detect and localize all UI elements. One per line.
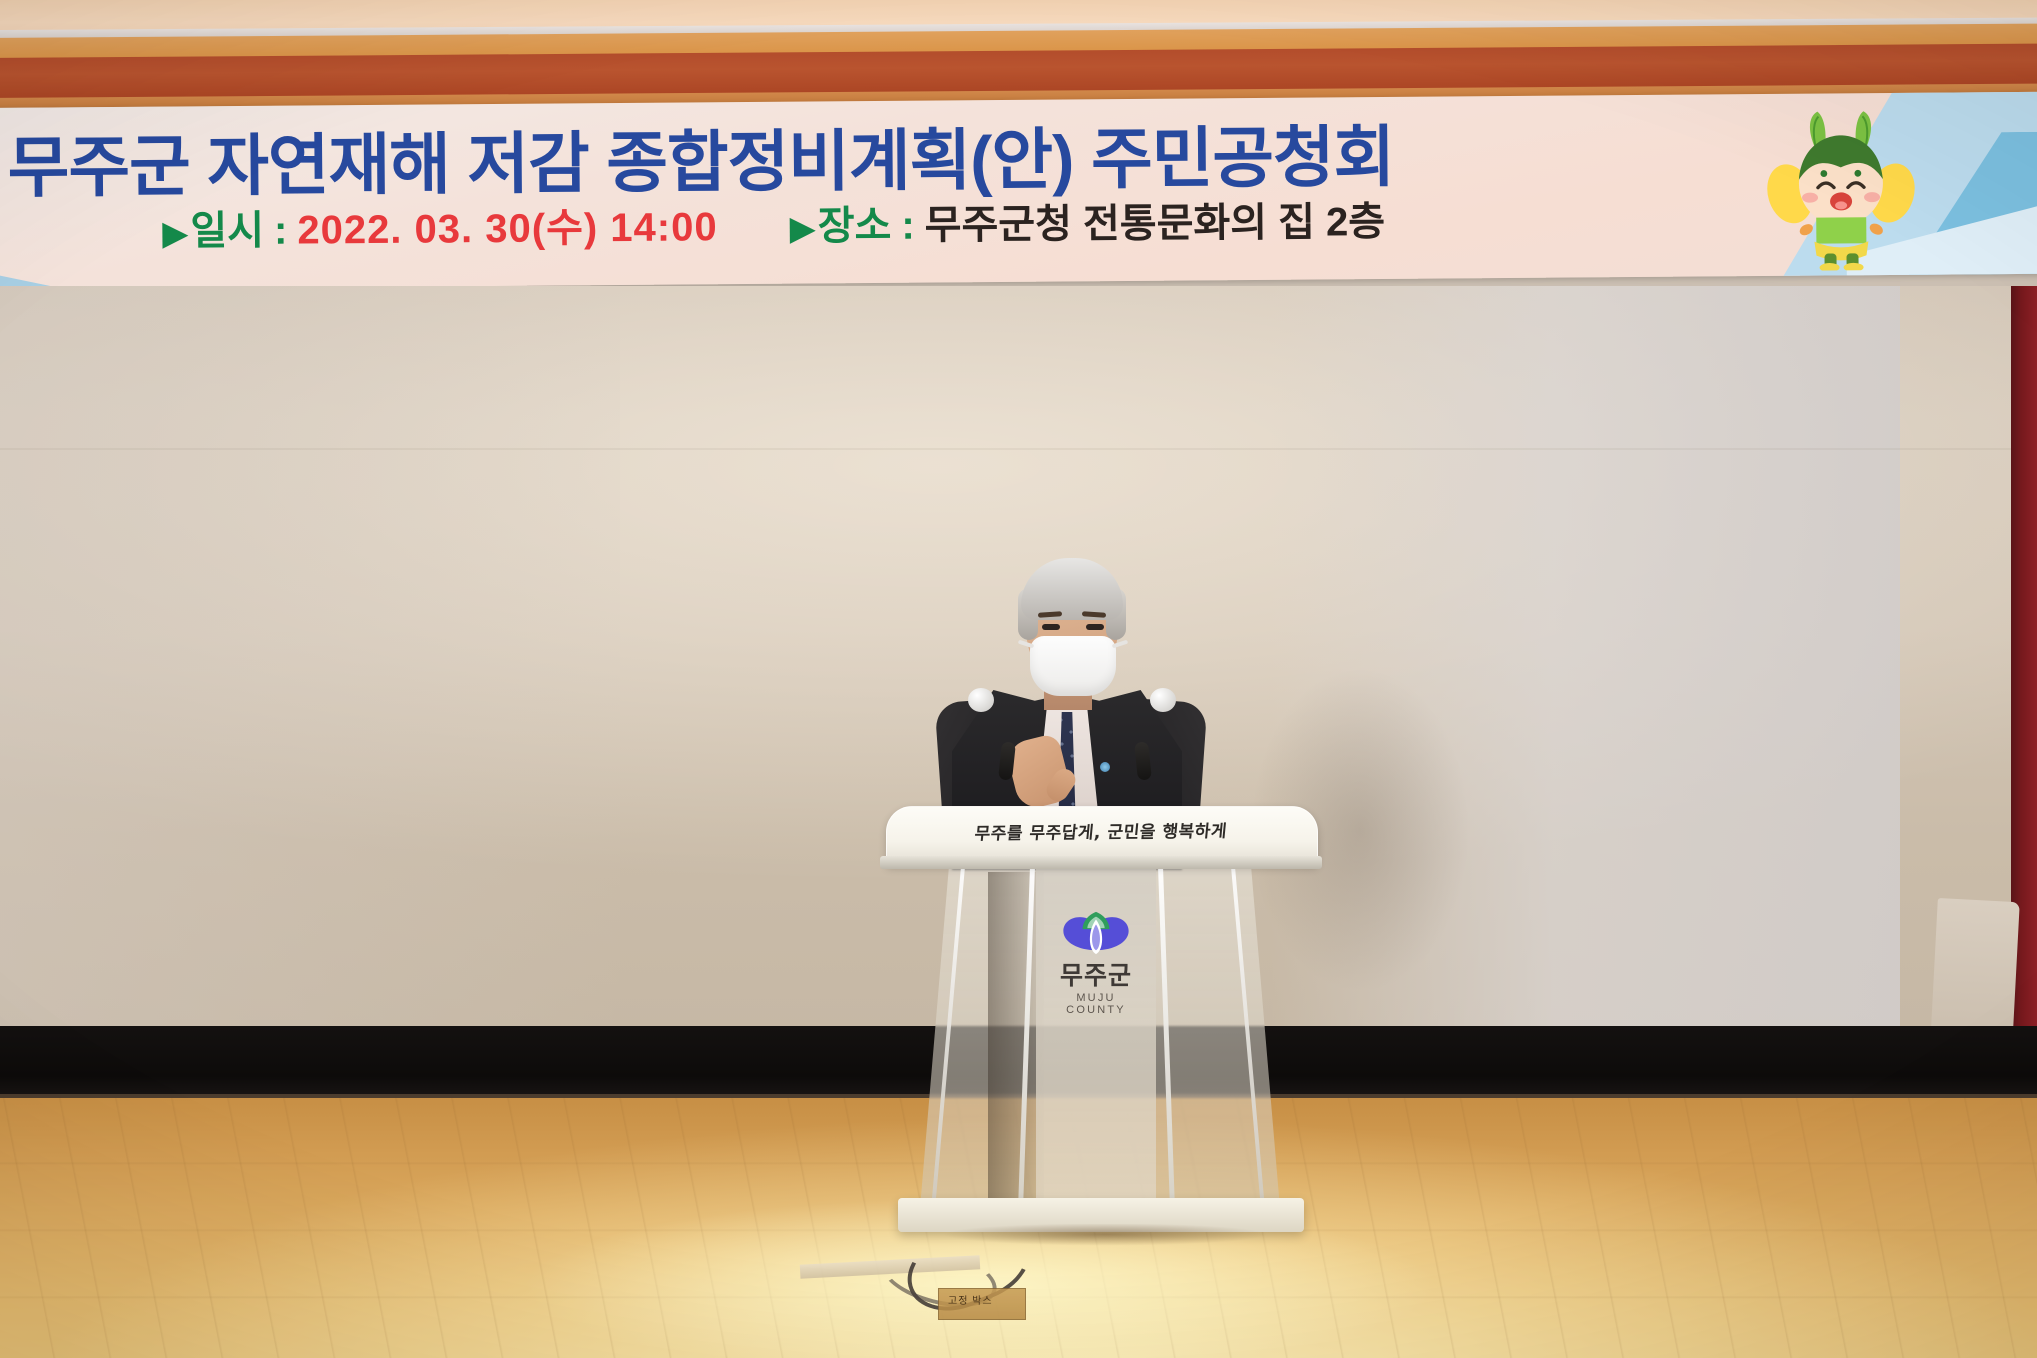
- place-colon: :: [901, 204, 915, 249]
- wall-seam: [0, 448, 2037, 450]
- subline-gap: [718, 240, 790, 241]
- lapel-pin: [1100, 762, 1110, 772]
- place-value: 무주군청 전통문화의 집 2층: [924, 189, 1385, 251]
- podium-slogan: 무주를 무주답게, 군민을 행복하게: [885, 816, 1318, 846]
- emblem-english-text: MUJU COUNTY: [1056, 992, 1136, 1016]
- event-banner: 무주군 자연재해 저감 종합정비계획(안) 주민공청회 ▶ 일시 : 2022.…: [0, 92, 2037, 290]
- microphone-head-right: [1150, 688, 1176, 712]
- date-triangle-icon: ▶: [162, 213, 188, 253]
- eye-left: [1042, 624, 1060, 630]
- firefly-mascot-icon: [1765, 105, 1916, 271]
- face-mask: [1030, 636, 1116, 696]
- emblem-korean-text: 무주군: [1056, 964, 1136, 989]
- floor-outlet-label: 고정 박스: [948, 1292, 993, 1307]
- date-label: 일시: [190, 198, 264, 257]
- wall-left-shading: [0, 286, 620, 1034]
- photo-scene: 무주군 자연재해 저감 종합정비계획(안) 주민공청회 ▶ 일시 : 2022.…: [0, 0, 2037, 1358]
- place-label: 장소: [818, 193, 892, 252]
- banner-subline: ▶ 일시 : 2022. 03. 30(수) 14:00 ▶ 장소 : 무주군청…: [162, 189, 1385, 257]
- muju-lotus-icon: [1057, 908, 1135, 956]
- eye-right: [1086, 624, 1104, 630]
- date-value: 2022. 03. 30(수) 14:00: [297, 194, 718, 255]
- date-colon: :: [274, 209, 288, 254]
- place-triangle-icon: ▶: [789, 208, 815, 248]
- podium-top-lip: [880, 856, 1322, 869]
- muju-county-emblem: 무주군 MUJU COUNTY: [1056, 908, 1136, 1000]
- microphone-head-left: [968, 688, 994, 712]
